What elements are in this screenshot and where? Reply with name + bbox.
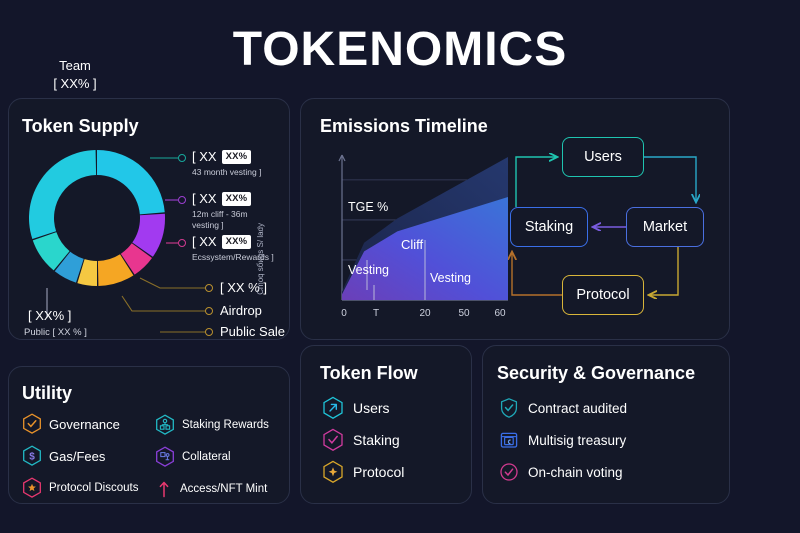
token-supply-title: Token Supply	[22, 116, 139, 137]
flow-node-market[interactable]: Market	[626, 207, 704, 247]
token-flow-item-staking[interactable]: Staking	[322, 428, 400, 452]
legend-entry-1-bracket: [ XX	[192, 149, 217, 164]
token-flow-label-users: Users	[353, 400, 390, 416]
legend-entry-2: [ XX XX%	[192, 191, 251, 206]
check-hex-icon	[22, 413, 42, 435]
utility-item-access-nft-mint[interactable]: Access/NFT Mint	[155, 478, 267, 500]
utility-item-collateral[interactable]: Collateral	[155, 446, 231, 468]
utility-label-collateral: Collateral	[182, 451, 231, 463]
legend-entry-2-bracket: [ XX	[192, 191, 217, 206]
utility-item-governance[interactable]: Governance	[22, 413, 120, 435]
donut-segment[interactable]	[29, 150, 96, 239]
legend-entry-2-sub2: vesting ]	[192, 220, 224, 231]
public-supply-label: [ XX% ]	[28, 308, 71, 323]
token-flow-label-protocol: Protocol	[353, 464, 404, 480]
legend-entry-1: [ XX XX%	[192, 149, 251, 164]
dollar-hex-icon: $	[22, 445, 42, 467]
legend-dot-6	[205, 328, 213, 336]
check-hex-icon	[322, 428, 344, 452]
donut-center-line2: [ XX% ]	[53, 75, 96, 93]
legend-dot-3	[178, 239, 186, 247]
shield-check-icon	[499, 397, 519, 419]
legend-entry-3-pct: XX%	[222, 235, 252, 249]
donut-segment[interactable]	[97, 150, 165, 214]
legend-entry-3-bracket: [ XX	[192, 234, 217, 249]
token-flow-item-users[interactable]: Users	[322, 396, 390, 420]
up-arrow-icon	[155, 478, 173, 500]
security-label-contract-audited: Contract audited	[528, 401, 627, 416]
utility-label-gas-fees: Gas/Fees	[49, 449, 105, 464]
legend-entry-1-sub: 43 month vesting ]	[192, 167, 261, 178]
check-circle-icon	[499, 461, 519, 483]
donut-svg	[22, 143, 172, 293]
utility-label-staking-rewards: Staking Rewards	[182, 419, 269, 431]
legend-simple-2: Airdrop	[220, 303, 262, 318]
utility-item-protocol-discounts[interactable]: Protocol Discouts	[22, 477, 138, 499]
legend-dot-1	[178, 154, 186, 162]
legend-entry-1-pct: XX%	[222, 150, 252, 164]
chart-xtick-3: 50	[454, 308, 474, 319]
flow-node-staking[interactable]: Staking	[510, 207, 588, 247]
star-hex-icon	[22, 477, 42, 499]
chart-xtick-1: T	[366, 308, 386, 319]
arrow-hex-icon	[322, 396, 344, 420]
security-item-onchain-voting[interactable]: On-chain voting	[499, 461, 623, 483]
flow-node-protocol[interactable]: Protocol	[562, 275, 644, 315]
legend-entry-3: [ XX XX%	[192, 234, 251, 249]
emissions-title: Emissions Timeline	[320, 116, 488, 137]
legend-simple-3: Public Sale	[220, 324, 285, 339]
emissions-y-axis-label: Cmoq sбиgs S/ lady	[256, 223, 396, 295]
token-flow-item-protocol[interactable]: Protocol	[322, 460, 404, 484]
token-supply-donut-chart	[22, 143, 172, 293]
security-item-contract-audited[interactable]: Contract audited	[499, 397, 627, 419]
chart-xtick-0: 0	[334, 308, 354, 319]
utility-label-protocol-discounts: Protocol Discouts	[49, 482, 138, 494]
legend-entry-2-pct: XX%	[222, 192, 252, 206]
network-hex-icon	[155, 414, 175, 436]
legend-dot-2	[178, 196, 186, 204]
legend-dot-5	[205, 307, 213, 315]
utility-item-gas-fees[interactable]: $ Gas/Fees	[22, 445, 105, 467]
utility-label-access-nft-mint: Access/NFT Mint	[180, 483, 267, 495]
legend-dot-4	[205, 284, 213, 292]
page-title: TOKENOMICS	[0, 22, 800, 77]
token-flow-label-staking: Staking	[353, 432, 400, 448]
chart-xtick-2: 20	[415, 308, 435, 319]
legend-entry-2-sub: 12m cliff - 36m	[192, 209, 248, 220]
spark-hex-icon	[322, 460, 344, 484]
security-title: Security & Governance	[497, 363, 695, 384]
public-supply-sub: Public [ XX % ]	[24, 327, 87, 338]
utility-title: Utility	[22, 383, 72, 404]
utility-item-staking-rewards[interactable]: Staking Rewards	[155, 414, 269, 436]
security-label-onchain-voting: On-chain voting	[528, 465, 623, 480]
emissions-chart: Cmoq sбиgs S/ lady TGE % Cliff Vesting	[312, 145, 512, 330]
flow-node-users[interactable]: Users	[562, 137, 644, 177]
security-item-multisig-treasury[interactable]: Multisig treasury	[499, 429, 626, 451]
safe-box-icon	[499, 429, 519, 451]
token-flow-title: Token Flow	[320, 363, 418, 384]
chart-hex-icon	[155, 446, 175, 468]
token-flow-diagram: Users Staking Market Protocol	[500, 125, 730, 325]
security-label-multisig-treasury: Multisig treasury	[528, 433, 626, 448]
utility-label-governance: Governance	[49, 417, 120, 432]
svg-text:$: $	[29, 452, 35, 463]
